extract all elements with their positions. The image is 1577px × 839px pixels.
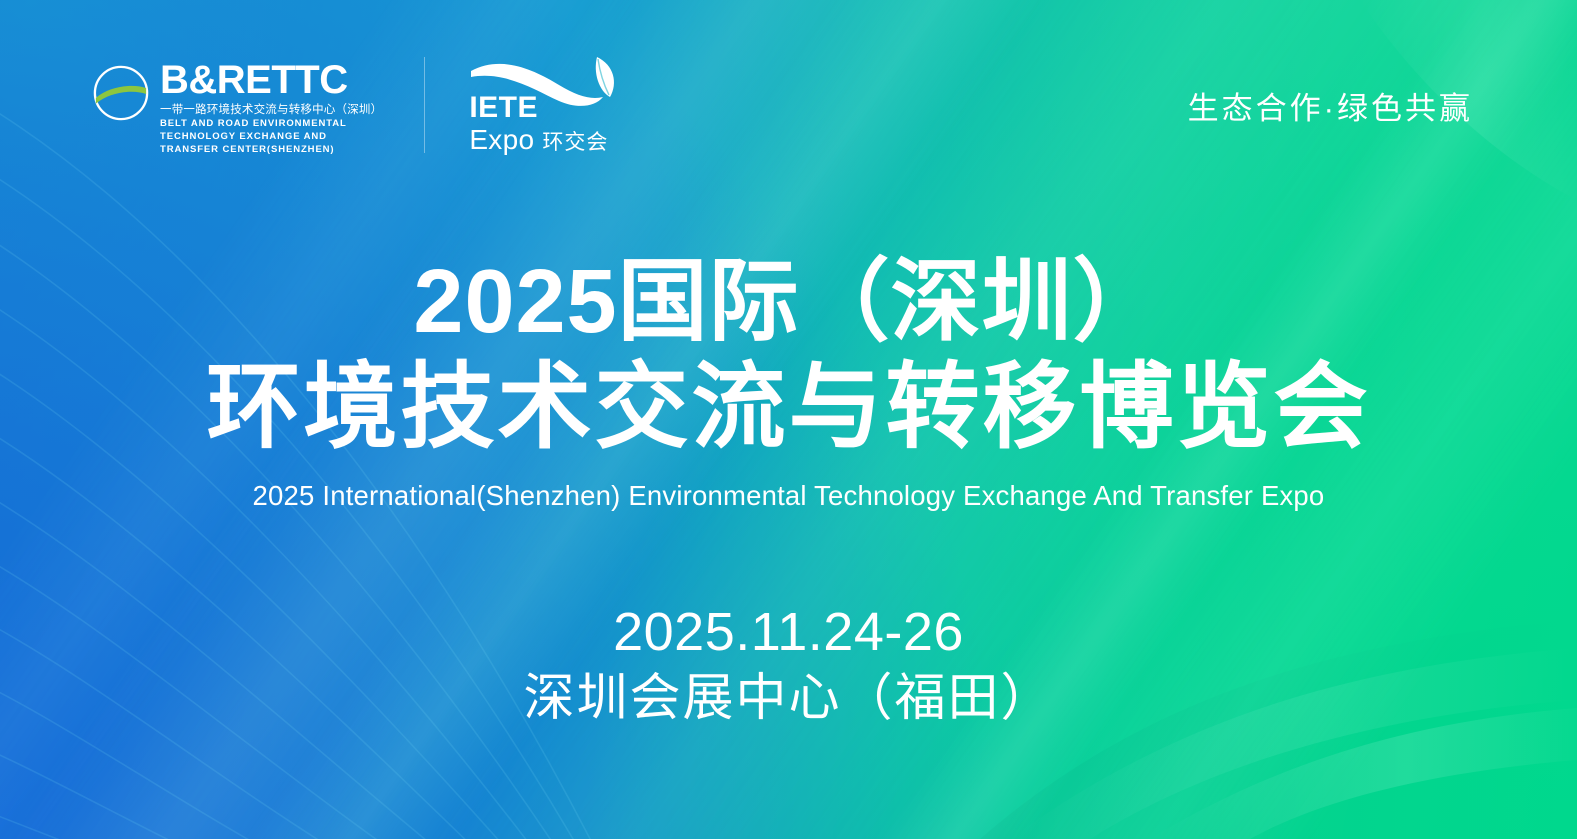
- globe-circle-with-green-band-icon: [92, 64, 150, 122]
- event-details-block: 2025.11.24-26 深圳会展中心（福田）: [0, 602, 1577, 729]
- brettc-text-block: B&RETTC 一带一路环境技术交流与转移中心（深圳） BELT AND ROA…: [160, 60, 382, 157]
- expo-promo-banner: B&RETTC 一带一路环境技术交流与转移中心（深圳） BELT AND ROA…: [0, 0, 1577, 839]
- iete-expo-word: Expo: [469, 126, 534, 154]
- brettc-chinese-name: 一带一路环境技术交流与转移中心（深圳）: [160, 103, 382, 119]
- title-line-2: 环境技术交流与转移博览会: [0, 356, 1577, 458]
- event-date: 2025.11.24-26: [0, 602, 1577, 662]
- banner-header: B&RETTC 一带一路环境技术交流与转移中心（深圳） BELT AND ROA…: [0, 0, 1577, 210]
- iete-chinese-short: 环交会: [542, 132, 608, 153]
- logo-divider: [424, 57, 425, 153]
- brettc-logo: B&RETTC 一带一路环境技术交流与转移中心（深圳） BELT AND ROA…: [92, 54, 382, 157]
- title-line-1: 2025国际（深圳）: [0, 255, 1577, 350]
- brettc-wordmark: B&RETTC: [160, 60, 382, 100]
- brettc-english-name: BELT AND ROAD ENVIRONMENTAL TECHNOLOGY E…: [160, 118, 358, 156]
- iete-text-block: IETE Expo 环交会: [469, 93, 608, 154]
- main-title-block: 2025国际（深圳） 环境技术交流与转移博览会 2025 Internation…: [0, 255, 1577, 512]
- iete-expo-logo: IETE Expo 环交会: [467, 53, 627, 157]
- subtitle-english: 2025 International(Shenzhen) Environment…: [0, 480, 1577, 512]
- iete-acronym: IETE: [469, 93, 608, 123]
- banner-slogan: 生态合作·绿色共赢: [1188, 83, 1473, 128]
- logo-group: B&RETTC 一带一路环境技术交流与转移中心（深圳） BELT AND ROA…: [92, 53, 627, 157]
- iete-subline: Expo 环交会: [469, 126, 608, 154]
- event-venue: 深圳会展中心（福田）: [0, 668, 1577, 728]
